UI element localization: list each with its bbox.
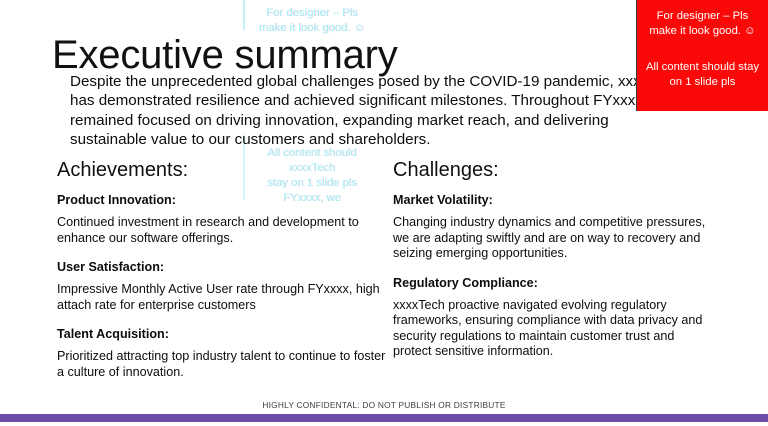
achievement-title-product-innovation: Product Innovation:: [57, 192, 387, 208]
designer-note-box: For designer – Pls make it look good. ☺ …: [636, 0, 768, 111]
challenge-title-market-volatility: Market Volatility:: [393, 192, 708, 208]
slide-canvas: For designer – Pls make it look good. ☺ …: [0, 0, 768, 426]
intro-paragraph: Despite the unprecedented global challen…: [70, 72, 688, 150]
achievement-title-user-satisfaction: User Satisfaction:: [57, 259, 387, 275]
achievement-title-talent-acquisition: Talent Acquisition:: [57, 326, 387, 342]
achievement-body-talent-acquisition: Prioritized attracting top industry tale…: [57, 349, 387, 380]
challenges-heading: Challenges:: [393, 158, 708, 182]
challenges-column: Challenges: Market Volatility: Changing …: [393, 158, 708, 360]
confidentiality-footer: HIGHLY CONFIDENTAL: DO NOT PUBLISH OR DI…: [0, 400, 768, 411]
bottom-accent-bar: [0, 414, 768, 422]
ghost-designer-note-line-1: For designer – Pls make it look good. ☺: [246, 6, 378, 36]
achievements-column: Achievements: Product Innovation: Contin…: [57, 158, 387, 380]
challenge-body-market-volatility: Changing industry dynamics and competiti…: [393, 215, 708, 262]
achievements-heading: Achievements:: [57, 158, 387, 182]
challenge-title-regulatory-compliance: Regulatory Compliance:: [393, 275, 708, 291]
achievement-body-user-satisfaction: Impressive Monthly Active User rate thro…: [57, 282, 387, 313]
achievement-body-product-innovation: Continued investment in research and dev…: [57, 215, 387, 246]
designer-note-line-2: All content should stay on 1 slide pls: [643, 60, 762, 90]
designer-note-line-1: For designer – Pls make it look good. ☺: [643, 9, 762, 39]
page-title: Executive summary: [52, 33, 398, 77]
challenge-body-regulatory-compliance: xxxxTech proactive navigated evolving re…: [393, 298, 708, 360]
